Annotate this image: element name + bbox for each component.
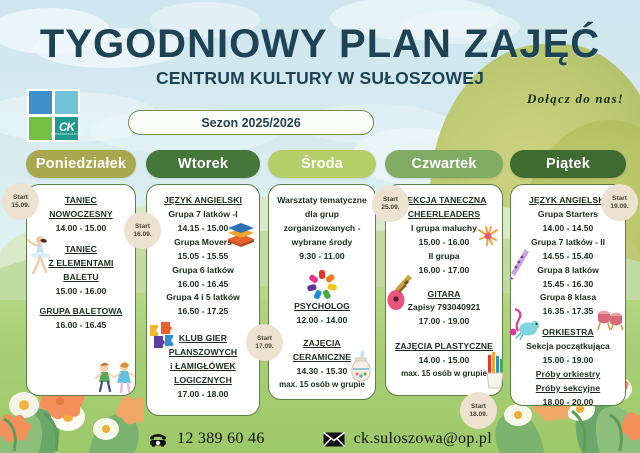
week-schedule: Poniedziałek TANIEC NOWOCZESNY 14.00 - 1… bbox=[0, 150, 640, 410]
contact-email[interactable]: ck.suloszowa@op.pl bbox=[323, 430, 492, 448]
class-group: Grupa Movers bbox=[152, 236, 254, 250]
day-label: Wtorek bbox=[178, 156, 228, 172]
class-title: GITARA bbox=[391, 288, 497, 302]
day-column-piatek: Piątek JĘZYK ANGIELSKI Grupa Starters 14… bbox=[510, 150, 626, 406]
start-badge-wtorek: Start 16.09. bbox=[124, 212, 161, 249]
class-title: TANIEC bbox=[32, 243, 130, 257]
class-subtitle: Próby sekcyjne bbox=[516, 382, 620, 396]
class-time: 17.00 - 18.00 bbox=[152, 388, 254, 402]
class-title: Z ELEMENTAMI bbox=[32, 257, 130, 271]
class-title: ZAJĘCIA bbox=[274, 337, 370, 351]
poster-canvas: TYGODNIOWY PLAN ZAJĘĆ CENTRUM KULTURY W … bbox=[0, 0, 640, 453]
class-group: Grupa 4 i 5 latków bbox=[152, 291, 254, 305]
class-capacity: max. 15 osób w grupie bbox=[274, 379, 370, 392]
start-badge-date: 17.09. bbox=[255, 343, 273, 351]
class-time: 14.30 - 15.30 bbox=[274, 365, 370, 379]
day-column-czwartek: Czwartek SEKCJA TANECZNA CHEERLEADERS I … bbox=[385, 150, 503, 396]
class-title: i ŁAMIGŁÓWEK bbox=[152, 360, 254, 374]
class-capacity: max. 15 osób w grupie bbox=[391, 368, 497, 381]
class-title: KLUB GIER bbox=[152, 332, 254, 346]
class-title: ZAJĘCIA PLASTYCZNE bbox=[391, 340, 497, 354]
telephone-icon bbox=[148, 431, 168, 447]
class-time: 16.00 - 16.45 bbox=[152, 278, 254, 292]
day-label: Piątek bbox=[546, 156, 590, 172]
ck-logo: CK CENTRUM KULTURY bbox=[27, 89, 80, 142]
email-address: ck.suloszowa@op.pl bbox=[354, 430, 492, 448]
class-time: 12.00 - 14.00 bbox=[274, 314, 370, 328]
class-group: Grupa 7 latków -I bbox=[152, 208, 254, 222]
contact-phone[interactable]: 12 389 60 46 bbox=[148, 430, 265, 448]
day-column-wtorek: Wtorek JĘZYK ANGIELSKI Grupa 7 latków -I… bbox=[146, 150, 260, 416]
class-time: 16.00 - 16.45 bbox=[32, 319, 130, 333]
day-label: Poniedziałek bbox=[36, 156, 126, 172]
start-badge-label: Start bbox=[135, 223, 150, 231]
day-header-czwartek[interactable]: Czwartek bbox=[385, 150, 503, 178]
day-card-wtorek: JĘZYK ANGIELSKI Grupa 7 latków -I 14.15 … bbox=[146, 184, 260, 416]
start-badge-label: Start bbox=[13, 194, 28, 202]
class-title: CERAMICZNE bbox=[274, 351, 370, 365]
day-header-wtorek[interactable]: Wtorek bbox=[146, 150, 260, 178]
class-group: I grupa maluchy bbox=[391, 222, 497, 236]
day-label: Środa bbox=[301, 156, 343, 172]
class-time: 16.50 - 17.25 bbox=[152, 305, 254, 319]
day-label: Czwartek bbox=[411, 156, 476, 172]
class-time: 15.05 - 15.55 bbox=[152, 250, 254, 264]
class-description: wybrane środy bbox=[274, 236, 370, 250]
page-title: TYGODNIOWY PLAN ZAJĘĆ bbox=[0, 22, 640, 67]
class-title: GRUPA BALETOWA bbox=[32, 305, 130, 319]
start-badge-date: 16.09. bbox=[133, 231, 151, 239]
logo-tile-cyan bbox=[55, 91, 78, 114]
logo-caption: CENTRUM KULTURY bbox=[51, 132, 82, 136]
start-badge-poniedzialek: Start 15.09. bbox=[2, 183, 39, 220]
start-badge-date: 19.09. bbox=[610, 203, 628, 211]
class-title: TANIEC bbox=[32, 194, 130, 208]
day-header-piatek[interactable]: Piątek bbox=[510, 150, 626, 178]
class-time: 15.00 - 16.00 bbox=[391, 236, 497, 250]
start-badge-date: 18.09. bbox=[469, 411, 487, 419]
start-badge-label: Start bbox=[257, 335, 272, 343]
class-group: II grupa bbox=[391, 250, 497, 264]
day-header-sroda[interactable]: Środa bbox=[268, 150, 376, 178]
class-title: LOGICZNYCH bbox=[152, 374, 254, 388]
class-group: Grupa 8 latków bbox=[516, 264, 620, 278]
contact-bar: 12 389 60 46 ck.suloszowa@op.pl bbox=[0, 424, 640, 453]
class-group: Grupa 6 latków bbox=[152, 264, 254, 278]
class-time: 14.00 - 15.00 bbox=[32, 222, 130, 236]
logo-tile-blue bbox=[29, 91, 52, 114]
start-badge-label: Start bbox=[383, 196, 398, 204]
class-time: 15.00 - 19.00 bbox=[516, 354, 620, 368]
phone-number: 12 389 60 46 bbox=[177, 430, 265, 448]
class-time: 14.55 - 15.40 bbox=[516, 250, 620, 264]
join-us-text: Dołącz do nas! bbox=[527, 91, 624, 107]
logo-tile-green bbox=[29, 117, 52, 140]
page-subtitle: CENTRUM KULTURY W SUŁOSZOWEJ bbox=[0, 68, 640, 89]
day-column-sroda: Środa Warsztaty tematyczne dla grup zorg… bbox=[268, 150, 376, 400]
day-column-poniedzialek: Poniedziałek TANIEC NOWOCZESNY 14.00 - 1… bbox=[26, 150, 136, 396]
class-description: Warsztaty tematyczne bbox=[274, 194, 370, 208]
logo-tile-teal: CK CENTRUM KULTURY bbox=[55, 117, 78, 140]
day-header-poniedzialek[interactable]: Poniedziałek bbox=[26, 150, 136, 178]
class-title: ORKIESTRA bbox=[516, 326, 620, 340]
class-description: dla grup bbox=[274, 208, 370, 222]
start-badge-label: Start bbox=[471, 403, 486, 411]
start-badge-piatek: Start 19.09. bbox=[601, 184, 638, 221]
start-badge-label: Start bbox=[612, 195, 627, 203]
class-time: 14.00 - 14.50 bbox=[516, 222, 620, 236]
class-time: 18.00 - 20.00 bbox=[516, 396, 620, 410]
class-title: JĘZYK ANGIELSKI bbox=[152, 194, 254, 208]
class-time: 15.00 - 16.00 bbox=[32, 285, 130, 299]
class-time: 17.00 - 19.00 bbox=[391, 315, 497, 329]
class-group: Grupa 7 latków - II bbox=[516, 236, 620, 250]
day-card-sroda: Warsztaty tematyczne dla grup zorganizow… bbox=[268, 184, 376, 400]
class-description: zorganizowanych - bbox=[274, 222, 370, 236]
class-time: 16.35 - 17.35 bbox=[516, 305, 620, 319]
class-time: 14.00 - 15.00 bbox=[391, 354, 497, 368]
class-time: 9.30 - 11.00 bbox=[274, 250, 370, 264]
class-time: 14.15 - 15.00 bbox=[152, 222, 254, 236]
season-label: Sezon 2025/2026 bbox=[201, 116, 300, 130]
class-signup: Zapisy 793040921 bbox=[391, 301, 497, 315]
class-title: BALETU bbox=[32, 271, 130, 285]
start-badge-czwartek: Start 25.09. bbox=[372, 185, 409, 222]
envelope-icon bbox=[323, 432, 345, 447]
start-badge-sroda: Start 17.09. bbox=[246, 324, 283, 361]
class-title: PLANSZOWYCH bbox=[152, 346, 254, 360]
season-badge: Sezon 2025/2026 bbox=[128, 110, 374, 135]
class-time: 15.45 - 16.30 bbox=[516, 278, 620, 292]
poster-header: TYGODNIOWY PLAN ZAJĘĆ CENTRUM KULTURY W … bbox=[0, 0, 640, 150]
start-badge-date: 15.09. bbox=[11, 202, 29, 210]
children-playing-icon bbox=[93, 361, 135, 393]
day-card-poniedzialek: TANIEC NOWOCZESNY 14.00 - 15.00 TANIEC Z… bbox=[26, 184, 136, 396]
start-badge-date: 25.09. bbox=[381, 204, 399, 212]
class-group: Grupa 8 klasa bbox=[516, 291, 620, 305]
class-title: PSYCHOLOG bbox=[274, 300, 370, 314]
class-group: Sekcja początkująca bbox=[516, 340, 620, 354]
start-badge-czwartek-secondary: Start 18.09. bbox=[460, 392, 497, 429]
class-time: 16.00 - 17.00 bbox=[391, 264, 497, 278]
class-title: NOWOCZESNY bbox=[32, 208, 130, 222]
class-subtitle: Próby orkiestry bbox=[516, 368, 620, 382]
